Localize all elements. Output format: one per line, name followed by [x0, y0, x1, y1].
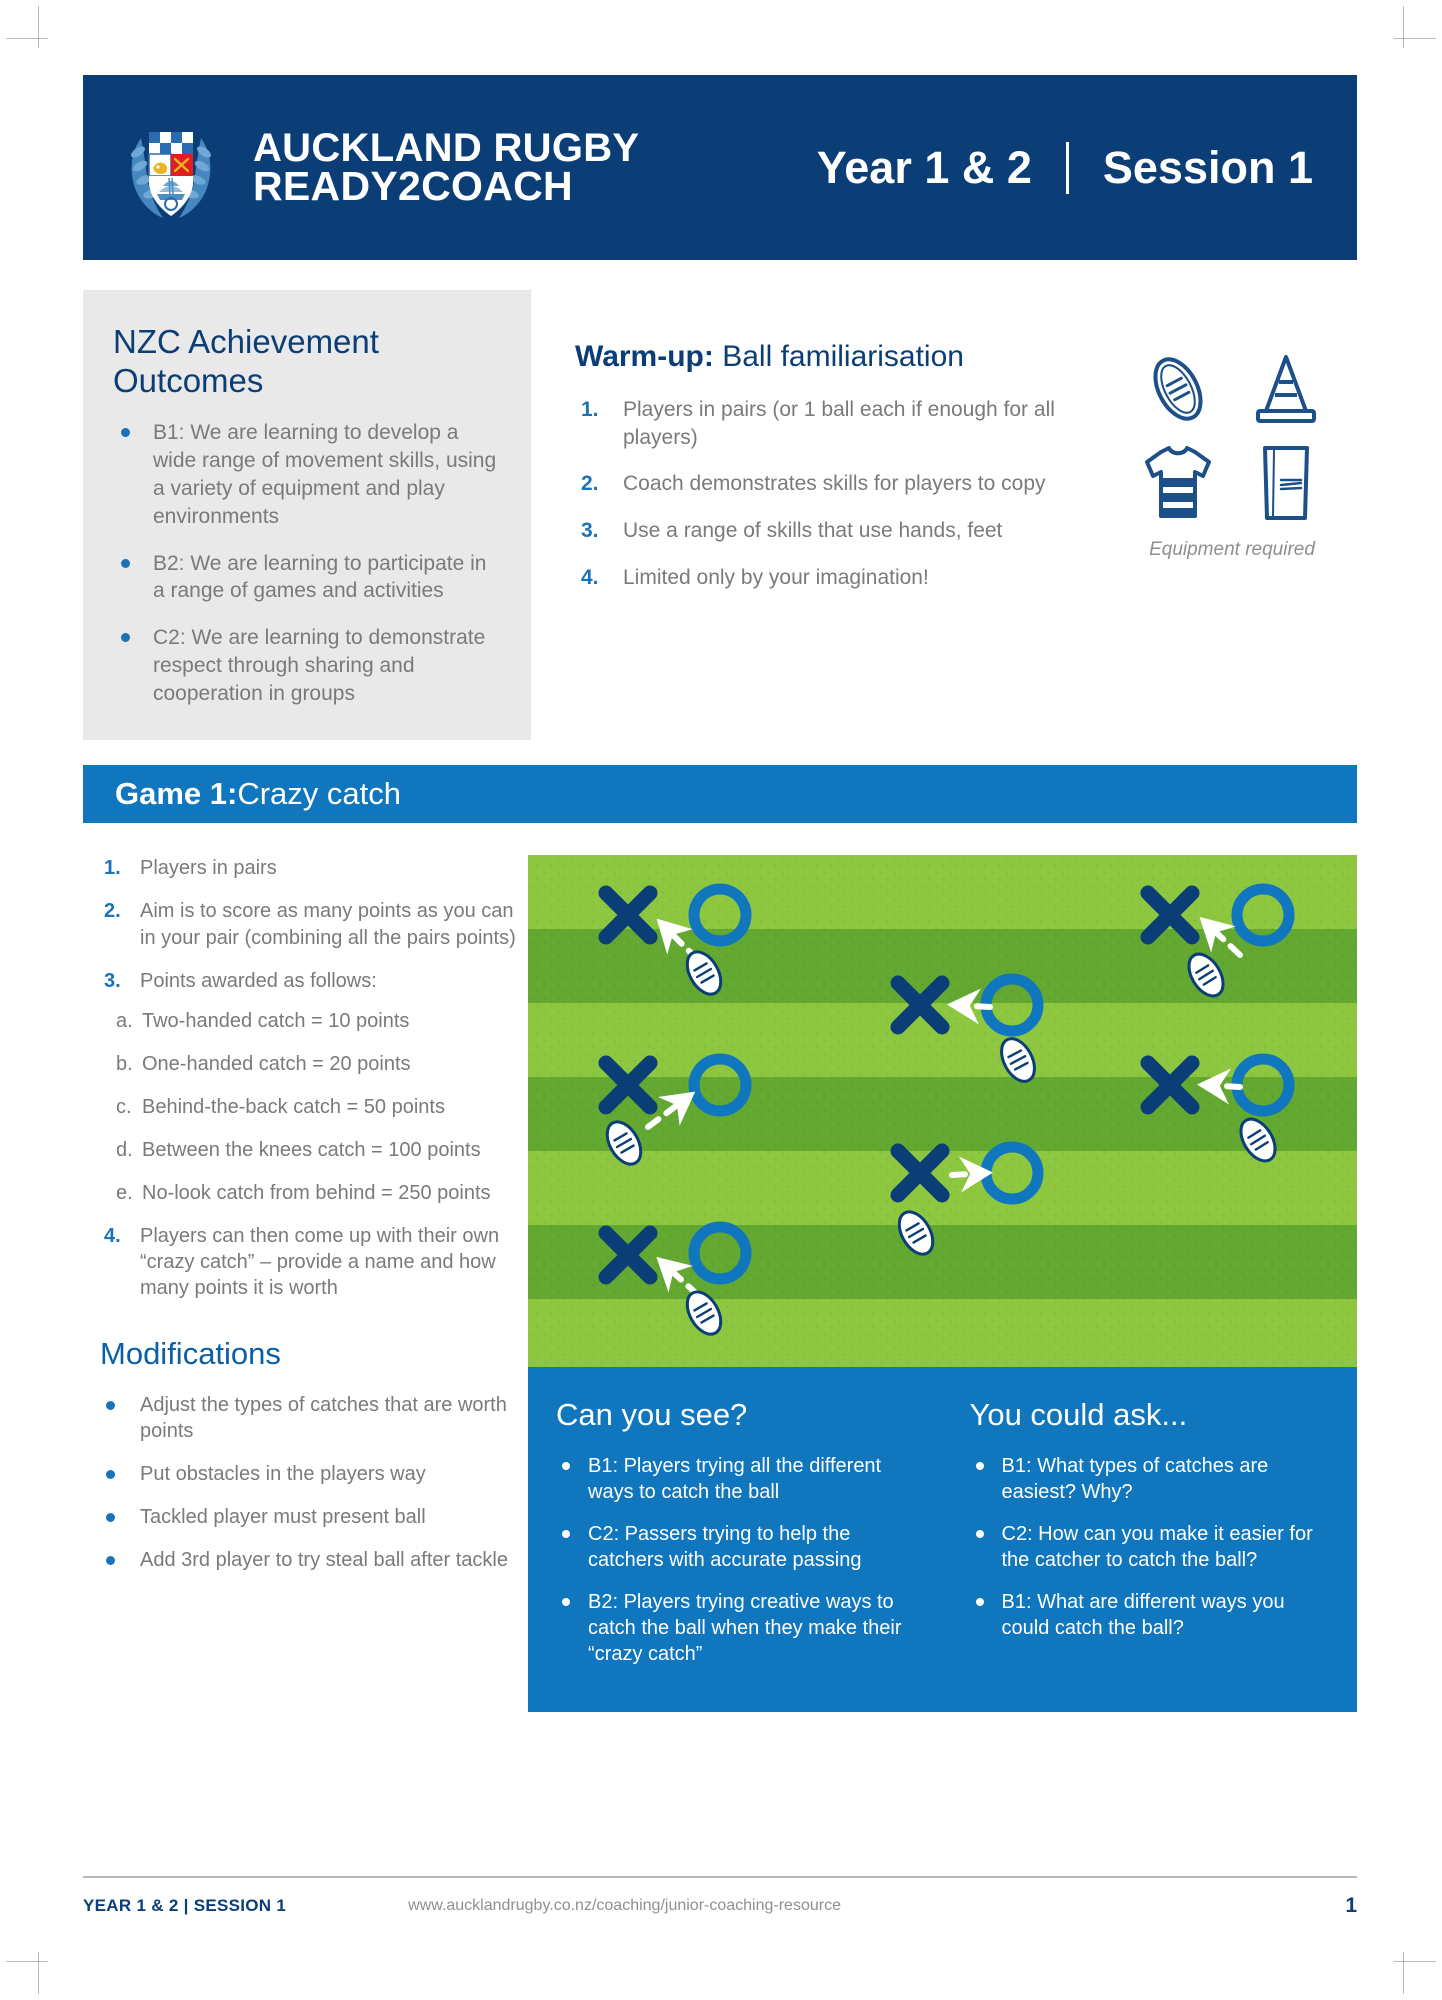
- bullet-icon: [562, 1530, 570, 1538]
- equipment-caption: Equipment required: [1132, 539, 1332, 561]
- list-item: 1.Players in pairs: [98, 855, 518, 881]
- header-divider: [1066, 142, 1069, 194]
- step-number: 1.: [104, 855, 121, 881]
- list-item: 4.Players can then come up with their ow…: [98, 1223, 518, 1302]
- you-could-ask-panel: You could ask... B1: What types of catch…: [944, 1367, 1358, 1712]
- warmup-section: Warm-up: Ball familiarisation 1.Players …: [575, 340, 1135, 611]
- list-item: C2: How can you make it easier for the c…: [970, 1521, 1332, 1573]
- sub-letter: c.: [116, 1094, 132, 1120]
- question-text: B1: What are different ways you could ca…: [1002, 1591, 1285, 1639]
- tackle-shield-icon: [1240, 439, 1332, 527]
- step-text: Limited only by your imagination!: [623, 566, 929, 589]
- list-item: B1: Players trying all the different way…: [556, 1453, 918, 1505]
- list-item: C2: We are learning to demonstrate respe…: [113, 624, 497, 708]
- observation-text: B2: Players trying creative ways to catc…: [588, 1591, 902, 1665]
- list-item: Tackled player must present ball: [98, 1504, 518, 1530]
- question-text: C2: How can you make it easier for the c…: [1002, 1523, 1313, 1571]
- list-item: 3.Use a range of skills that use hands, …: [575, 517, 1135, 545]
- traffic-cone-icon: [1240, 345, 1332, 433]
- crop-mark: [6, 1961, 48, 1962]
- step-text: Use a range of skills that use hands, fe…: [623, 519, 1002, 542]
- sub-letter: b.: [116, 1051, 133, 1077]
- sub-text: Two-handed catch = 10 points: [142, 1010, 409, 1032]
- list-item: 1.Players in pairs (or 1 ball each if en…: [575, 396, 1135, 451]
- bullet-icon: [121, 633, 130, 642]
- rugby-ball-icon: [1132, 345, 1224, 433]
- crazy-catch-field-diagram: [528, 855, 1357, 1367]
- you-could-ask-list: B1: What types of catches are easiest? W…: [970, 1453, 1332, 1641]
- bullet-icon: [562, 1462, 570, 1470]
- nzc-item-text: B1: We are learning to develop a wide ra…: [153, 421, 496, 528]
- equipment-required-block: Equipment required: [1132, 345, 1332, 561]
- you-could-ask-title: You could ask...: [970, 1397, 1332, 1433]
- footer-session-label: YEAR 1 & 2 | SESSION 1: [83, 1896, 286, 1916]
- step-number: 4.: [581, 564, 599, 592]
- modification-text: Put obstacles in the players way: [140, 1463, 426, 1485]
- nzc-outcome-list: B1: We are learning to develop a wide ra…: [83, 419, 531, 708]
- game-step-list-continued: 4.Players can then come up with their ow…: [98, 1223, 518, 1302]
- rugby-jersey-icon: [1132, 439, 1224, 527]
- list-item: C2: Passers trying to help the catchers …: [556, 1521, 918, 1573]
- sub-letter: e.: [116, 1180, 133, 1206]
- header-session-info: Year 1 & 2 Session 1: [817, 142, 1313, 194]
- step-text: Players in pairs (or 1 ball each if enou…: [623, 398, 1055, 449]
- session-sheet-page: AUCKLAND RUGBY READY2COACH Year 1 & 2 Se…: [0, 0, 1442, 2000]
- sub-text: Behind-the-back catch = 50 points: [142, 1096, 445, 1118]
- sub-text: Between the knees catch = 100 points: [142, 1139, 481, 1161]
- step-text: Players can then come up with their own …: [140, 1225, 499, 1300]
- game-title-bar: Game 1: Crazy catch: [83, 765, 1357, 823]
- list-item: Put obstacles in the players way: [98, 1461, 518, 1487]
- bullet-icon: [976, 1530, 984, 1538]
- step-number: 3.: [104, 968, 121, 994]
- bullet-icon: [106, 1401, 115, 1410]
- crop-mark: [1394, 38, 1436, 39]
- game-instructions-column: 1.Players in pairs 2.Aim is to score as …: [98, 855, 518, 1590]
- modifications-title: Modifications: [100, 1336, 518, 1372]
- step-text: Aim is to score as many points as you ca…: [140, 900, 516, 948]
- sub-text: One-handed catch = 20 points: [142, 1053, 411, 1075]
- list-item: a.Two-handed catch = 10 points: [98, 1008, 518, 1034]
- list-item: c.Behind-the-back catch = 50 points: [98, 1094, 518, 1120]
- list-item: Add 3rd player to try steal ball after t…: [98, 1547, 518, 1573]
- list-item: B2: Players trying creative ways to catc…: [556, 1589, 918, 1667]
- bullet-icon: [562, 1598, 570, 1606]
- question-text: B1: What types of catches are easiest? W…: [1002, 1455, 1269, 1503]
- step-number: 3.: [581, 517, 599, 545]
- crop-mark: [38, 1952, 39, 1994]
- list-item: e.No-look catch from behind = 250 points: [98, 1180, 518, 1206]
- footer-page-number: 1: [1345, 1894, 1357, 1918]
- brand-wordmark: AUCKLAND RUGBY READY2COACH: [253, 130, 639, 205]
- list-item: B1: What types of catches are easiest? W…: [970, 1453, 1332, 1505]
- bullet-icon: [976, 1462, 984, 1470]
- nzc-title: NZC Achievement Outcomes: [83, 290, 531, 401]
- game-step-list: 1.Players in pairs 2.Aim is to score as …: [98, 855, 518, 995]
- observation-text: C2: Passers trying to help the catchers …: [588, 1523, 861, 1571]
- crop-mark: [1394, 1961, 1436, 1962]
- list-item: 2.Aim is to score as many points as you …: [98, 898, 518, 951]
- modification-text: Adjust the types of catches that are wor…: [140, 1394, 507, 1442]
- brand-line-2: READY2COACH: [253, 167, 639, 205]
- page-header: AUCKLAND RUGBY READY2COACH Year 1 & 2 Se…: [83, 75, 1357, 260]
- crop-mark: [6, 38, 48, 39]
- points-scoring-list: a.Two-handed catch = 10 points b.One-han…: [98, 1008, 518, 1206]
- modifications-list: Adjust the types of catches that are wor…: [98, 1392, 518, 1573]
- list-item: B1: What are different ways you could ca…: [970, 1589, 1332, 1641]
- bullet-icon: [106, 1556, 115, 1565]
- modification-text: Tackled player must present ball: [140, 1506, 426, 1528]
- modification-text: Add 3rd player to try steal ball after t…: [140, 1549, 508, 1571]
- page-footer: YEAR 1 & 2 | SESSION 1 www.aucklandrugby…: [83, 1894, 1357, 1918]
- step-number: 4.: [104, 1223, 121, 1249]
- nzc-item-text: B2: We are learning to participate in a …: [153, 552, 486, 603]
- sub-text: No-look catch from behind = 250 points: [142, 1182, 491, 1204]
- step-text: Coach demonstrates skills for players to…: [623, 472, 1046, 495]
- crop-mark: [38, 6, 39, 48]
- bullet-icon: [121, 428, 130, 437]
- year-label: Year 1 & 2: [817, 142, 1032, 194]
- session-label: Session 1: [1103, 142, 1313, 194]
- brand-line-1: AUCKLAND RUGBY: [253, 130, 639, 167]
- step-number: 2.: [104, 898, 121, 924]
- list-item: 4.Limited only by your imagination!: [575, 564, 1135, 592]
- nzc-item-text: C2: We are learning to demonstrate respe…: [153, 626, 485, 705]
- can-you-see-title: Can you see?: [556, 1397, 918, 1433]
- list-item: B2: We are learning to participate in a …: [113, 550, 497, 606]
- list-item: d.Between the knees catch = 100 points: [98, 1137, 518, 1163]
- warmup-label: Warm-up:: [575, 340, 714, 373]
- step-number: 2.: [581, 470, 599, 498]
- bullet-icon: [121, 559, 130, 568]
- reflection-panels: Can you see? B1: Players trying all the …: [528, 1367, 1357, 1712]
- equipment-icon-grid: [1132, 345, 1332, 527]
- list-item: 2.Coach demonstrates skills for players …: [575, 470, 1135, 498]
- game-title: Crazy catch: [237, 776, 401, 812]
- footer-divider: [83, 1876, 1357, 1878]
- list-item: Adjust the types of catches that are wor…: [98, 1392, 518, 1444]
- footer-url: www.aucklandrugby.co.nz/coaching/junior-…: [408, 1897, 841, 1915]
- sub-letter: a.: [116, 1008, 133, 1034]
- list-item: B1: We are learning to develop a wide ra…: [113, 419, 497, 531]
- step-number: 1.: [581, 396, 599, 424]
- step-text: Players in pairs: [140, 857, 277, 879]
- warmup-step-list: 1.Players in pairs (or 1 ball each if en…: [575, 396, 1135, 592]
- list-item: 3.Points awarded as follows:: [98, 968, 518, 994]
- bullet-icon: [976, 1598, 984, 1606]
- game-label: Game 1:: [115, 776, 237, 812]
- can-you-see-panel: Can you see? B1: Players trying all the …: [528, 1367, 944, 1712]
- step-text: Points awarded as follows:: [140, 970, 377, 992]
- warmup-title: Ball familiarisation: [714, 340, 964, 373]
- observation-text: B1: Players trying all the different way…: [588, 1455, 881, 1503]
- warmup-heading: Warm-up: Ball familiarisation: [575, 340, 1135, 374]
- crop-mark: [1403, 1952, 1404, 1994]
- can-you-see-list: B1: Players trying all the different way…: [556, 1453, 918, 1667]
- nzc-achievement-outcomes-box: NZC Achievement Outcomes B1: We are lear…: [83, 290, 531, 740]
- bullet-icon: [106, 1470, 115, 1479]
- crop-mark: [1403, 6, 1404, 48]
- sub-letter: d.: [116, 1137, 133, 1163]
- auckland-rugby-crest-icon: [111, 108, 231, 228]
- bullet-icon: [106, 1513, 115, 1522]
- list-item: b.One-handed catch = 20 points: [98, 1051, 518, 1077]
